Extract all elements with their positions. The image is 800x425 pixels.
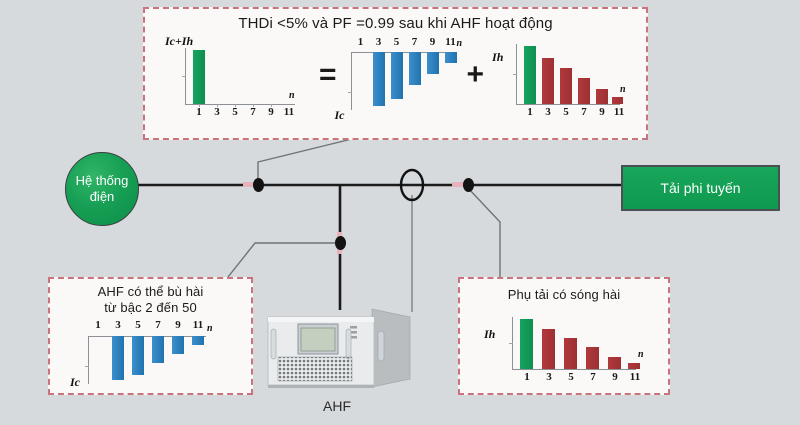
chart-ahf-output-yaxis xyxy=(88,336,89,384)
leader-bottom-left-panel xyxy=(228,243,340,277)
chart-harmonics-bar-9 xyxy=(596,89,608,104)
chart-harmonics-xaxis xyxy=(516,104,620,105)
chart-harmonics-xlabel: n xyxy=(620,84,626,95)
chart-sum-xaxis xyxy=(185,104,295,105)
chart-load-harmonics-xlabel: n xyxy=(638,349,644,360)
power-system-source[interactable]: Hệ thống điện xyxy=(65,152,139,226)
ahf-caption: AHF xyxy=(262,398,412,414)
diagram-canvas: Hệ thống điện Tải phi tuyến AHF xyxy=(0,0,800,425)
source-label-line1: Hệ thống xyxy=(76,173,129,189)
chart-load-harmonics-plot: n xyxy=(512,317,640,369)
chart-compensation-bar-5 xyxy=(391,52,403,99)
bottom-left-title-line2: từ bậc 2 đến 50 xyxy=(50,300,251,315)
chart-compensation-plot: n xyxy=(351,52,461,110)
chart-ahf-output-xaxis xyxy=(88,336,206,337)
chart-harmonics-bar-11 xyxy=(612,97,623,104)
load-label: Tải phi tuyến xyxy=(660,180,740,196)
chart-ahf-output-bar-7 xyxy=(152,336,164,363)
bus-node-source-side xyxy=(253,178,264,192)
chart-sum-xlabel: n xyxy=(289,90,295,101)
chart-ahf-output-xtick-label: 9 xyxy=(175,319,181,331)
chart-ahf-output-xtick-label: 1 xyxy=(95,319,101,331)
chart-compensation: 1 3 5 7 9 11 n Ic xyxy=(343,34,461,122)
chart-compensation-bar-9 xyxy=(427,52,439,74)
ahf-handle-right xyxy=(346,329,351,359)
chart-compensation-xtick-label: 5 xyxy=(394,36,400,48)
leader-bottom-right-panel xyxy=(468,188,500,277)
ahf-base-shadow xyxy=(268,385,374,388)
ahf-handle-left xyxy=(271,329,276,359)
chart-ahf-output-xtick-label: 3 xyxy=(115,319,121,331)
chart-harmonics-xtick-label: 3 xyxy=(545,106,551,118)
chart-ahf-output-bar-3 xyxy=(112,336,124,380)
chart-load-harmonics-ytick xyxy=(509,343,513,344)
chart-ahf-output-xtick-label: 7 xyxy=(155,319,161,331)
chart-sum-bar-1 xyxy=(193,50,205,104)
chart-sum-xtick-label: 1 xyxy=(196,106,202,118)
bottom-left-title-line1: AHF có thể bù hài xyxy=(50,284,251,299)
chart-load-harmonics-xtick-label: 3 xyxy=(546,371,552,383)
nonlinear-load-box[interactable]: Tải phi tuyến xyxy=(621,165,780,211)
chart-load-harmonics: Ih n 1 3 5 7 9 11 xyxy=(482,309,652,391)
chart-load-harmonics-bar-7 xyxy=(586,347,599,369)
chart-harmonics-xtick-label: 9 xyxy=(599,106,605,118)
chart-harmonics: Ih n 1 3 5 7 9 xyxy=(490,34,628,122)
chart-harmonics-ylabel: Ih xyxy=(492,50,503,65)
callout-panel-bottom-right: Phụ tải có sóng hài Ih n 1 3 5 7 9 xyxy=(458,277,670,395)
chart-harmonics-ytick xyxy=(513,74,517,75)
chart-compensation-bar-3 xyxy=(373,52,385,106)
top-panel-title: THDi <5% và PF =0.99 sau khi AHF hoạt độ… xyxy=(145,15,646,32)
chart-compensation-xtick-label: 7 xyxy=(412,36,418,48)
ahf-device-image[interactable] xyxy=(262,307,412,392)
chart-load-harmonics-xaxis xyxy=(512,369,636,370)
chart-ahf-output: 1 3 5 7 9 11 n Ic xyxy=(76,319,236,391)
chart-compensation-ytick xyxy=(348,92,352,93)
chart-load-harmonics-xtick-label: 7 xyxy=(590,371,596,383)
chart-ahf-output-xlabel: n xyxy=(207,323,213,334)
chart-sum: Ic+Ih n 1 3 5 7 xyxy=(163,34,313,122)
chart-compensation-yaxis xyxy=(351,52,352,110)
chart-sum-xtick-label: 11 xyxy=(284,106,294,118)
chart-load-harmonics-xtick-label: 11 xyxy=(630,371,640,383)
chart-ahf-output-bar-11 xyxy=(192,336,204,345)
chart-sum-xtick-label: 3 xyxy=(214,106,220,118)
plus-operator: + xyxy=(461,60,491,90)
bus-node-load-side xyxy=(463,178,474,192)
chart-compensation-bar-11 xyxy=(445,52,457,63)
chart-ahf-output-ytick xyxy=(85,366,89,367)
chart-sum-ytick xyxy=(182,76,186,77)
chart-load-harmonics-bar-11 xyxy=(628,363,640,369)
chart-harmonics-xtick-label: 1 xyxy=(527,106,533,118)
callout-panel-top: THDi <5% và PF =0.99 sau khi AHF hoạt độ… xyxy=(143,7,648,140)
equals-operator: = xyxy=(313,60,343,90)
chart-compensation-xtick-label: 1 xyxy=(358,36,364,48)
chart-load-harmonics-xtick-label: 9 xyxy=(612,371,618,383)
chart-harmonics-plot: n xyxy=(516,44,620,104)
leader-top-panel xyxy=(258,137,360,185)
chart-load-harmonics-xtick-label: 1 xyxy=(524,371,530,383)
chart-harmonics-xtick-label: 11 xyxy=(614,106,624,118)
chart-sum-xtick-label: 7 xyxy=(250,106,256,118)
chart-harmonics-xtick-label: 7 xyxy=(581,106,587,118)
ahf-handle-side xyxy=(378,331,384,361)
chart-harmonics-xtick-label: 5 xyxy=(563,106,569,118)
chart-ahf-output-plot: n xyxy=(88,336,212,384)
chart-compensation-bar-7 xyxy=(409,52,421,85)
chart-load-harmonics-bar-9 xyxy=(608,357,621,369)
ahf-chassis-top-edge xyxy=(268,317,374,322)
chart-compensation-xtick-label: 11 xyxy=(445,36,455,48)
ahf-branch-node xyxy=(335,236,346,250)
bottom-right-title: Phụ tải có sóng hài xyxy=(460,287,668,302)
chart-ahf-output-bar-5 xyxy=(132,336,144,375)
chart-ahf-output-xtick-label: 11 xyxy=(193,319,203,331)
chart-load-harmonics-ylabel: Ih xyxy=(484,327,495,342)
source-label-line2: điện xyxy=(90,189,115,205)
chart-ahf-output-bar-9 xyxy=(172,336,184,354)
chart-load-harmonics-bar-5 xyxy=(564,338,577,369)
chart-load-harmonics-xtick-label: 5 xyxy=(568,371,574,383)
callout-panel-bottom-left: AHF có thể bù hài từ bậc 2 đến 50 1 3 5 … xyxy=(48,277,253,395)
top-panel-charts: Ic+Ih n 1 3 5 7 xyxy=(145,34,646,122)
chart-harmonics-bar-5 xyxy=(560,68,572,104)
chart-sum-plot: n xyxy=(185,48,295,104)
ahf-ventilation-grille xyxy=(278,357,352,381)
chart-harmonics-bar-7 xyxy=(578,78,590,104)
chart-sum-ylabel: Ic+Ih xyxy=(165,34,193,49)
ahf-display-screen xyxy=(301,328,335,351)
chart-harmonics-bar-1 xyxy=(524,46,536,104)
chart-harmonics-bar-3 xyxy=(542,58,554,104)
chart-compensation-xlabel: n xyxy=(457,38,463,49)
chart-load-harmonics-bar-3 xyxy=(542,329,555,369)
chart-sum-xtick-label: 9 xyxy=(268,106,274,118)
ahf-indicator-1 xyxy=(350,326,357,329)
chart-sum-xtick-label: 5 xyxy=(232,106,238,118)
chart-compensation-xtick-label: 9 xyxy=(430,36,436,48)
chart-load-harmonics-bar-1 xyxy=(520,319,533,369)
chart-ahf-output-xtick-label: 5 xyxy=(135,319,141,331)
chart-compensation-ylabel: Ic xyxy=(335,108,345,123)
chart-ahf-output-ylabel: Ic xyxy=(70,375,80,390)
chart-compensation-xtick-label: 3 xyxy=(376,36,382,48)
chart-compensation-xaxis xyxy=(351,52,455,53)
